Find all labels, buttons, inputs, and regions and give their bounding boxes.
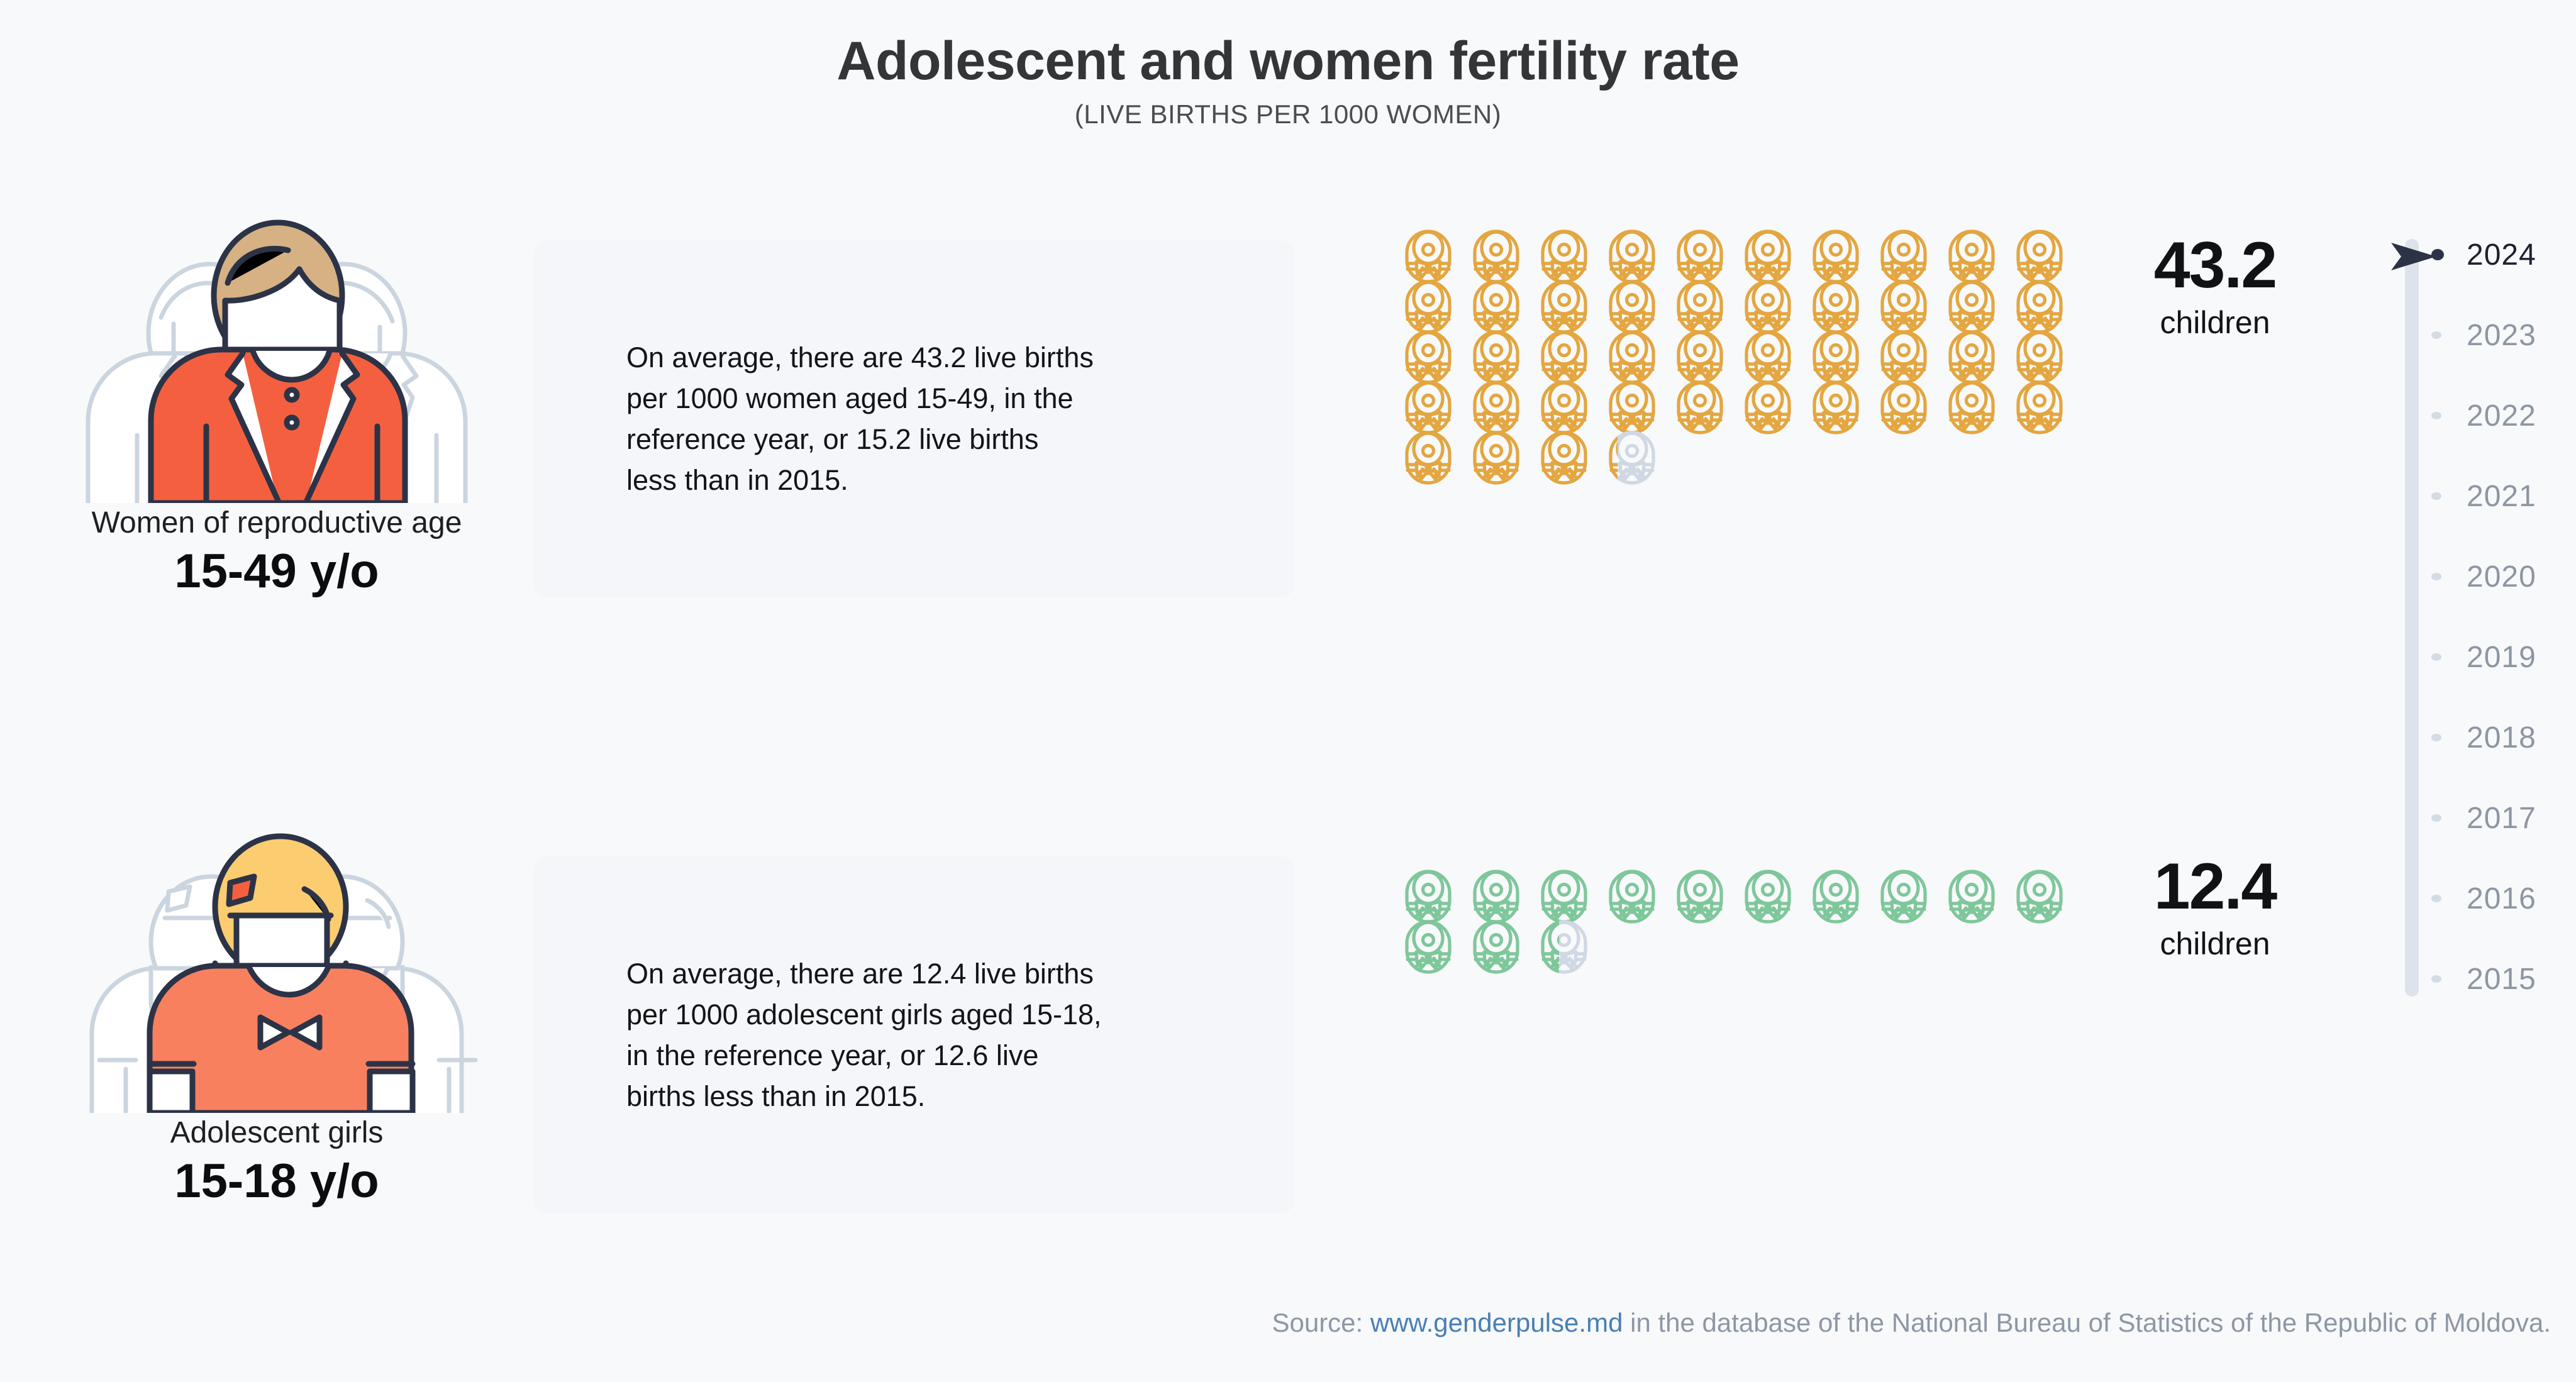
swaddled-baby-icon <box>1472 869 1521 924</box>
pictogram-icon-cell <box>1947 382 2015 433</box>
pictogram-icon-cell <box>2015 382 2083 433</box>
pictogram-icon-cell <box>1540 231 1607 282</box>
pictogram-icon-cell <box>1947 231 2015 282</box>
swaddled-baby-icon <box>1811 329 1860 385</box>
pictogram-icon-cell <box>1675 231 1743 282</box>
timeline-year-label: 2019 <box>2467 640 2536 675</box>
pictogram-icon-cell <box>1811 282 1879 332</box>
pictogram-icon-cell <box>1947 282 2015 332</box>
pictogram-icon-cell <box>1743 382 1811 433</box>
year-timeline[interactable]: 2024202320222021202020192018201720162015 <box>2390 233 2572 1006</box>
timeline-year-label: 2023 <box>2467 318 2536 353</box>
pictogram-icon-cell <box>1472 382 1540 433</box>
timeline-year-dot <box>2431 412 2441 419</box>
swaddled-baby-icon <box>1879 279 1928 334</box>
pictogram-icon-cell <box>1879 282 1947 332</box>
pictogram-icon-cell <box>1879 231 1947 282</box>
swaddled-baby-icon <box>1947 380 1996 435</box>
swaddled-baby-icon <box>1743 380 1792 435</box>
pictogram-icon-cell <box>2015 231 2083 282</box>
timeline-year-2021[interactable]: 2021 <box>2390 474 2572 518</box>
pictogram-row <box>1404 382 2083 433</box>
pictogram-icon-cell <box>1743 231 1811 282</box>
swaddled-baby-icon <box>1404 919 1453 975</box>
source-prefix: Source: <box>1272 1308 1370 1337</box>
pictogram-icon-cell <box>1743 282 1811 332</box>
timeline-year-2020[interactable]: 2020 <box>2390 555 2572 599</box>
swaddled-baby-icon <box>1404 279 1453 334</box>
swaddled-baby-icon <box>1879 229 1928 284</box>
timeline-year-2017[interactable]: 2017 <box>2390 796 2572 840</box>
timeline-year-label: 2017 <box>2467 801 2536 836</box>
swaddled-baby-icon <box>1540 229 1589 284</box>
timeline-year-label: 2021 <box>2467 479 2536 514</box>
swaddled-baby-icon <box>1675 380 1724 435</box>
pictogram-icon-cell <box>1404 922 1472 972</box>
pictogram-icon-cell <box>1811 382 1879 433</box>
swaddled-baby-icon <box>1947 329 1996 385</box>
pictogram-icon-cell <box>1540 433 1607 483</box>
swaddled-baby-icon <box>1947 279 1996 334</box>
timeline-year-dot <box>2431 975 2441 983</box>
source-footer: Source: www.genderpulse.md in the databa… <box>0 1308 2551 1338</box>
pictogram-icon-cell <box>1472 922 1540 972</box>
girls-stat-unit: children <box>2121 926 2309 962</box>
timeline-year-label: 2020 <box>2467 560 2536 594</box>
swaddled-baby-icon <box>1879 380 1928 435</box>
pictogram-icon-cell <box>1540 871 1607 922</box>
pictogram-icon-cell <box>1540 332 1607 382</box>
swaddled-baby-icon <box>1879 869 1928 924</box>
timeline-year-2016[interactable]: 2016 <box>2390 876 2572 920</box>
pictogram-icon-cell <box>1879 871 1947 922</box>
pictogram-icon-cell <box>1404 332 1472 382</box>
pictogram-icon-cell <box>1607 231 1675 282</box>
swaddled-baby-icon <box>1947 229 1996 284</box>
timeline-year-dot <box>2431 814 2441 822</box>
pictogram-icon-cell <box>1404 433 1472 483</box>
swaddled-baby-icon <box>1540 869 1589 924</box>
swaddled-baby-icon <box>2015 279 2064 334</box>
pictogram-icon-cell <box>1540 922 1607 972</box>
pictogram-icon-cell <box>1404 282 1472 332</box>
swaddled-baby-icon <box>1540 380 1589 435</box>
timeline-year-dot <box>2431 573 2441 580</box>
women-callout-text: On average, there are 43.2 live births p… <box>626 337 1094 501</box>
pictogram-icon-cell <box>1472 871 1540 922</box>
pictogram-icon-cell <box>1811 332 1879 382</box>
swaddled-baby-icon <box>1472 919 1521 975</box>
swaddled-baby-icon <box>1607 380 1657 435</box>
pictogram-icon-cell <box>1472 282 1540 332</box>
swaddled-baby-icon <box>1607 279 1657 334</box>
swaddled-baby-icon <box>1472 279 1521 334</box>
pictogram-icon-cell <box>1607 382 1675 433</box>
swaddled-baby-icon <box>2015 229 2064 284</box>
swaddled-baby-icon <box>1743 869 1792 924</box>
women-stat: 43.2 children <box>2121 233 2309 341</box>
timeline-year-2024[interactable]: 2024 <box>2390 233 2572 277</box>
swaddled-baby-icon <box>1404 869 1453 924</box>
pictogram-icon-partial <box>1607 430 1618 485</box>
girls-stat: 12.4 children <box>2121 854 2309 962</box>
pictogram-icon-cell <box>1472 231 1540 282</box>
pictogram-row <box>1404 332 2083 382</box>
pictogram-icon-cell <box>1675 871 1743 922</box>
infographic-canvas: Adolescent and women fertility rate (LIV… <box>0 0 2576 1382</box>
pictogram-icon-cell <box>1743 871 1811 922</box>
source-suffix: in the database of the National Bureau o… <box>1623 1308 2551 1337</box>
pictogram-icon-cell <box>1472 332 1540 382</box>
swaddled-baby-icon <box>1540 430 1589 485</box>
page-subtitle: (LIVE BIRTHS PER 1000 WOMEN) <box>0 99 2576 130</box>
pictogram-row <box>1404 231 2083 282</box>
women-pictogram-grid <box>1404 231 2083 483</box>
girls-group-age: 15-18 y/o <box>25 1154 528 1208</box>
timeline-year-2018[interactable]: 2018 <box>2390 716 2572 760</box>
timeline-year-label: 2018 <box>2467 721 2536 755</box>
swaddled-baby-icon <box>1404 430 1453 485</box>
girls-callout-box: On average, there are 12.4 live births p… <box>533 856 1294 1213</box>
swaddled-baby-icon <box>1540 279 1589 334</box>
timeline-year-dot <box>2431 895 2441 902</box>
timeline-year-2022[interactable]: 2022 <box>2390 394 2572 438</box>
women-stat-value: 43.2 <box>2121 233 2309 298</box>
pictogram-icon-cell <box>1675 282 1743 332</box>
women-group-age: 15-49 y/o <box>25 544 528 599</box>
swaddled-baby-icon <box>1607 229 1657 284</box>
swaddled-baby-icon <box>1743 229 1792 284</box>
pictogram-icon-cell <box>1404 382 1472 433</box>
pictogram-row <box>1404 922 2083 972</box>
pictogram-icon-cell <box>1607 433 1675 483</box>
timeline-year-dot <box>2431 734 2441 741</box>
source-link[interactable]: www.genderpulse.md <box>1370 1308 1623 1337</box>
girls-group-label: Adolescent girls <box>25 1117 528 1150</box>
women-group-block: Women of reproductive age 15-49 y/o <box>25 207 528 599</box>
timeline-year-dot <box>2431 331 2441 339</box>
women-callout-box: On average, there are 43.2 live births p… <box>533 240 1294 597</box>
timeline-year-dot <box>2431 249 2444 260</box>
pictogram-icon-cell <box>1540 382 1607 433</box>
swaddled-baby-icon <box>1472 380 1521 435</box>
timeline-year-2023[interactable]: 2023 <box>2390 313 2572 357</box>
swaddled-baby-icon <box>1607 869 1657 924</box>
swaddled-baby-icon <box>1607 329 1657 385</box>
timeline-year-label: 2015 <box>2467 962 2536 997</box>
girls-group-block: Adolescent girls 15-18 y/o <box>25 817 528 1208</box>
timeline-year-dot <box>2431 492 2441 500</box>
swaddled-baby-icon <box>1675 229 1724 284</box>
swaddled-baby-icon <box>1947 869 1996 924</box>
swaddled-baby-icon <box>2015 869 2064 924</box>
pictogram-icon-partial <box>1540 919 1559 975</box>
pictogram-row <box>1404 871 2083 922</box>
pictogram-icon-cell <box>2015 282 2083 332</box>
pictogram-icon-cell <box>1947 871 2015 922</box>
swaddled-baby-icon <box>2015 329 2064 385</box>
pictogram-icon-cell <box>1879 382 1947 433</box>
pictogram-icon-cell <box>1607 332 1675 382</box>
swaddled-baby-icon <box>1811 229 1860 284</box>
pictogram-icon-cell <box>1607 871 1675 922</box>
swaddled-baby-icon <box>1743 329 1792 385</box>
pictogram-icon-cell <box>1404 871 1472 922</box>
swaddled-baby-icon <box>1811 380 1860 435</box>
swaddled-baby-icon <box>1472 329 1521 385</box>
timeline-year-label: 2022 <box>2467 399 2536 433</box>
swaddled-baby-icon <box>1404 380 1453 435</box>
swaddled-baby-icon <box>1540 919 1559 975</box>
timeline-year-2019[interactable]: 2019 <box>2390 635 2572 679</box>
timeline-year-label: 2016 <box>2467 882 2536 916</box>
pictogram-icon-cell <box>1472 433 1540 483</box>
swaddled-baby-icon <box>1540 329 1589 385</box>
swaddled-baby-icon <box>1404 229 1453 284</box>
pictogram-row <box>1404 282 2083 332</box>
swaddled-baby-icon <box>1811 279 1860 334</box>
swaddled-baby-icon <box>1879 329 1928 385</box>
pictogram-icon-cell <box>1879 332 1947 382</box>
swaddled-baby-icon <box>1472 430 1521 485</box>
swaddled-baby-icon <box>2015 380 2064 435</box>
pictogram-icon-cell <box>1540 282 1607 332</box>
girls-callout-text: On average, there are 12.4 live births p… <box>626 953 1102 1117</box>
pictogram-icon-cell <box>1675 332 1743 382</box>
pictogram-icon-cell <box>1947 332 2015 382</box>
pictogram-icon-cell <box>1811 231 1879 282</box>
pictogram-icon-cell <box>1607 282 1675 332</box>
swaddled-baby-icon <box>1472 229 1521 284</box>
swaddled-baby-icon <box>1675 329 1724 385</box>
three-women-figure-icon <box>25 207 528 503</box>
girls-pictogram-grid <box>1404 871 2083 972</box>
pictogram-icon-cell <box>1743 332 1811 382</box>
pictogram-icon-cell <box>2015 871 2083 922</box>
pictogram-icon-cell <box>1675 382 1743 433</box>
swaddled-baby-icon <box>1404 329 1453 385</box>
women-stat-unit: children <box>2121 304 2309 341</box>
girls-stat-value: 12.4 <box>2121 854 2309 919</box>
page-title: Adolescent and women fertility rate <box>0 30 2576 92</box>
pictogram-icon-cell <box>1404 231 1472 282</box>
women-group-label: Women of reproductive age <box>25 507 528 540</box>
timeline-year-label: 2024 <box>2467 238 2536 272</box>
swaddled-baby-icon <box>1607 430 1618 485</box>
swaddled-baby-icon <box>1675 279 1724 334</box>
pictogram-icon-cell <box>1811 871 1879 922</box>
swaddled-baby-icon <box>1675 869 1724 924</box>
three-adolescent-girls-figure-icon <box>25 817 528 1113</box>
timeline-year-dot <box>2431 653 2441 661</box>
swaddled-baby-icon <box>1811 869 1860 924</box>
pictogram-row <box>1404 433 2083 483</box>
swaddled-baby-icon <box>1743 279 1792 334</box>
timeline-year-2015[interactable]: 2015 <box>2390 957 2572 1001</box>
pictogram-icon-cell <box>2015 332 2083 382</box>
